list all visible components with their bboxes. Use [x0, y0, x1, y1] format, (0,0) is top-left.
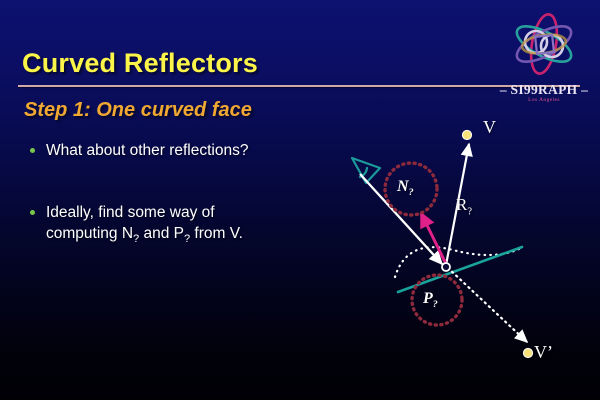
- reflection-diagram: V V’ R? N? P?: [335, 110, 600, 390]
- siggraph-logo: – SI99RAPH – Los Angeles: [496, 10, 592, 102]
- bullet-line-1: Ideally, find some way of: [46, 204, 215, 221]
- siggraph-rings-icon: [496, 10, 592, 82]
- logo-city-label: Los Angeles: [496, 97, 592, 103]
- label-normal-base: N: [397, 178, 409, 195]
- bullet-marker-icon: [30, 148, 35, 153]
- label-ray-subscript: ?: [467, 206, 472, 217]
- label-normal-subscript: ?: [409, 187, 414, 198]
- bullet-item: Ideally, find some way ofcomputing N? an…: [30, 202, 320, 250]
- bullet-text: Ideally, find some way ofcomputing N? an…: [46, 202, 243, 250]
- endpoint-dot-V-prime: [523, 348, 532, 357]
- bullet-line-2-b: and P: [139, 225, 184, 242]
- label-point-base: P: [423, 290, 433, 307]
- hit-point-marker: [442, 263, 450, 271]
- normal-arrow: [421, 213, 448, 268]
- diagram-svg: [335, 110, 600, 390]
- logo-wordmark: – SI99RAPH –: [496, 82, 592, 98]
- label-ray: R?: [456, 195, 472, 217]
- bullet-item: What about other reflections?: [30, 140, 320, 161]
- slide-subtitle: Step 1: One curved face: [24, 99, 252, 122]
- label-point-subscript: ?: [433, 299, 438, 310]
- label-point: P?: [423, 290, 438, 310]
- label-normal: N?: [397, 178, 414, 198]
- bullet-marker-icon: [30, 210, 35, 215]
- label-view-vector: V: [483, 117, 496, 138]
- label-reflected-vector: V’: [534, 342, 553, 363]
- label-ray-base: R: [456, 195, 467, 214]
- bullet-line-2-a: computing N: [46, 225, 133, 242]
- bullet-text: What about other reflections?: [46, 140, 248, 161]
- endpoint-dot-V: [462, 130, 471, 139]
- curved-surface-dotted: [395, 247, 521, 277]
- slide-canvas: Curved Reflectors Step 1: One curved fac…: [0, 0, 600, 400]
- page-title: Curved Reflectors: [22, 48, 258, 79]
- bullet-line-2-c: from V.: [190, 225, 243, 242]
